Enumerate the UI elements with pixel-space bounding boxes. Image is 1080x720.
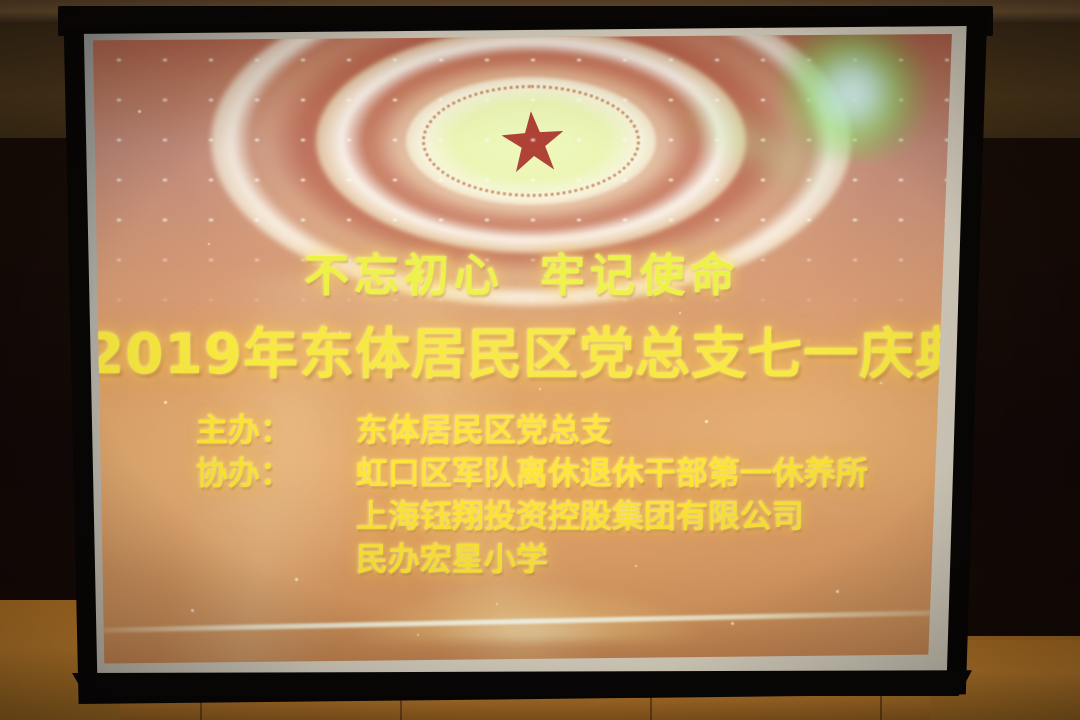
organizer-row: 协办： 虹口区军队离休退休干部第一休养所: [196, 453, 946, 494]
headline-part2: 牢记使命: [540, 249, 740, 302]
conference-room-photo: 不忘初心牢记使命 2019年东体居民区党总支七一庆典 主办： 东体居民区党总支 …: [0, 0, 1080, 720]
headline-part1: 不忘初心: [304, 249, 504, 302]
organizer-label: 主办：: [196, 410, 356, 451]
slide-title: 2019年东体居民区党总支七一庆典: [86, 309, 958, 389]
organizer-value: 民办宏星小学: [356, 539, 946, 580]
organizer-value: 虹口区军队离休退休干部第一休养所: [356, 453, 946, 494]
organizer-row: 主办： 东体居民区党总支: [196, 410, 946, 451]
organizer-value: 上海钰翔投资控股集团有限公司: [356, 496, 946, 537]
projected-slide: 不忘初心牢记使命 2019年东体居民区党总支七一庆典 主办： 东体居民区党总支 …: [86, 34, 958, 666]
organizer-row: 上海钰翔投资控股集团有限公司: [196, 496, 946, 537]
slide-headline: 不忘初心牢记使命: [86, 239, 958, 304]
organizer-row: 民办宏星小学: [196, 539, 946, 580]
slide-text-layer: 不忘初心牢记使命 2019年东体居民区党总支七一庆典 主办： 东体居民区党总支 …: [86, 34, 958, 666]
organizer-value: 东体居民区党总支: [356, 410, 946, 451]
organizer-list: 主办： 东体居民区党总支 协办： 虹口区军队离休退休干部第一休养所 上海钰翔投资…: [196, 410, 946, 582]
organizer-label: 协办：: [196, 453, 356, 494]
